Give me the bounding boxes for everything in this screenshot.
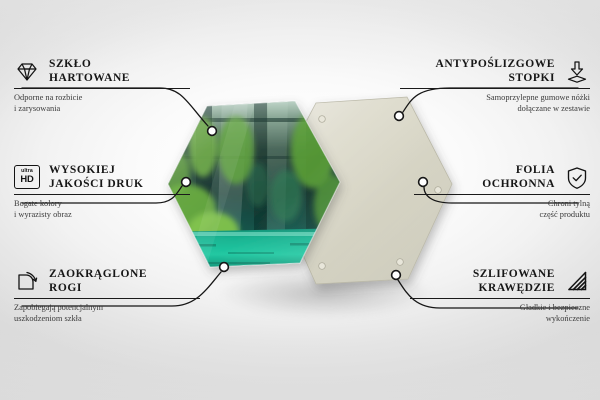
feature-subtitle: Odporne na rozbicie i zarysowania [14,93,190,114]
feature-divider [14,194,190,195]
press-down-pad-icon [564,59,590,85]
feature-title: ZAOKRĄGLONE ROGI [49,268,147,295]
feature-tempered-glass: SZKŁO HARTOWANE Odporne na rozbicie i za… [14,58,190,114]
feature-header: ANTYPOŚLIZGOWE STOPKI [400,58,590,85]
feature-anti-slip-feet: ANTYPOŚLIZGOWE STOPKI Samoprzylepne gumo… [400,58,590,114]
feature-header: FOLIA OCHRONNA [414,164,590,191]
feature-divider [14,88,190,89]
feature-subtitle: Bogate kolory i wyrazisty obraz [14,199,190,220]
feature-title: WYSOKIEJ JAKOŚCI DRUK [49,164,143,191]
feature-title: SZKŁO HARTOWANE [49,58,130,85]
feature-rounded-corners: ZAOKRĄGLONE ROGI Zapobiegają potencjalny… [14,268,200,324]
feature-subtitle: Gładkie i bezpieczne wykończenie [410,303,590,324]
feature-title: FOLIA OCHRONNA [482,164,555,191]
feature-header: SZLIFOWANE KRAWĘDZIE [410,268,590,295]
feature-header: ultra HD WYSOKIEJ JAKOŚCI DRUK [14,164,190,191]
feature-header: SZKŁO HARTOWANE [14,58,190,85]
feature-title: ANTYPOŚLIZGOWE STOPKI [435,58,555,85]
rounded-corner-icon [14,269,40,295]
feature-title: SZLIFOWANE KRAWĘDZIE [473,268,555,295]
hatched-triangle-icon [564,269,590,295]
feature-subtitle: Samoprzylepne gumowe nóżki dołączane w z… [400,93,590,114]
feature-subtitle: Zapobiegają potencjalnym uszkodzeniom sz… [14,303,200,324]
feature-protective-film: FOLIA OCHRONNA Chroni tylną część produk… [414,164,590,220]
ultra-hd-badge-icon: ultra HD [14,165,40,191]
diamond-icon [14,59,40,85]
feature-subtitle: Chroni tylną część produktu [414,199,590,220]
shield-check-icon [564,165,590,191]
feature-divider [400,88,590,89]
feature-high-quality-print: ultra HD WYSOKIEJ JAKOŚCI DRUK Bogate ko… [14,164,190,220]
feature-divider [14,298,200,299]
hd-label: HD [20,174,33,184]
feature-divider [414,194,590,195]
feature-header: ZAOKRĄGLONE ROGI [14,268,200,295]
infographic-canvas: SZKŁO HARTOWANE Odporne na rozbicie i za… [0,0,600,400]
feature-divider [410,298,590,299]
feature-polished-edges: SZLIFOWANE KRAWĘDZIE Gładkie i bezpieczn… [410,268,590,324]
